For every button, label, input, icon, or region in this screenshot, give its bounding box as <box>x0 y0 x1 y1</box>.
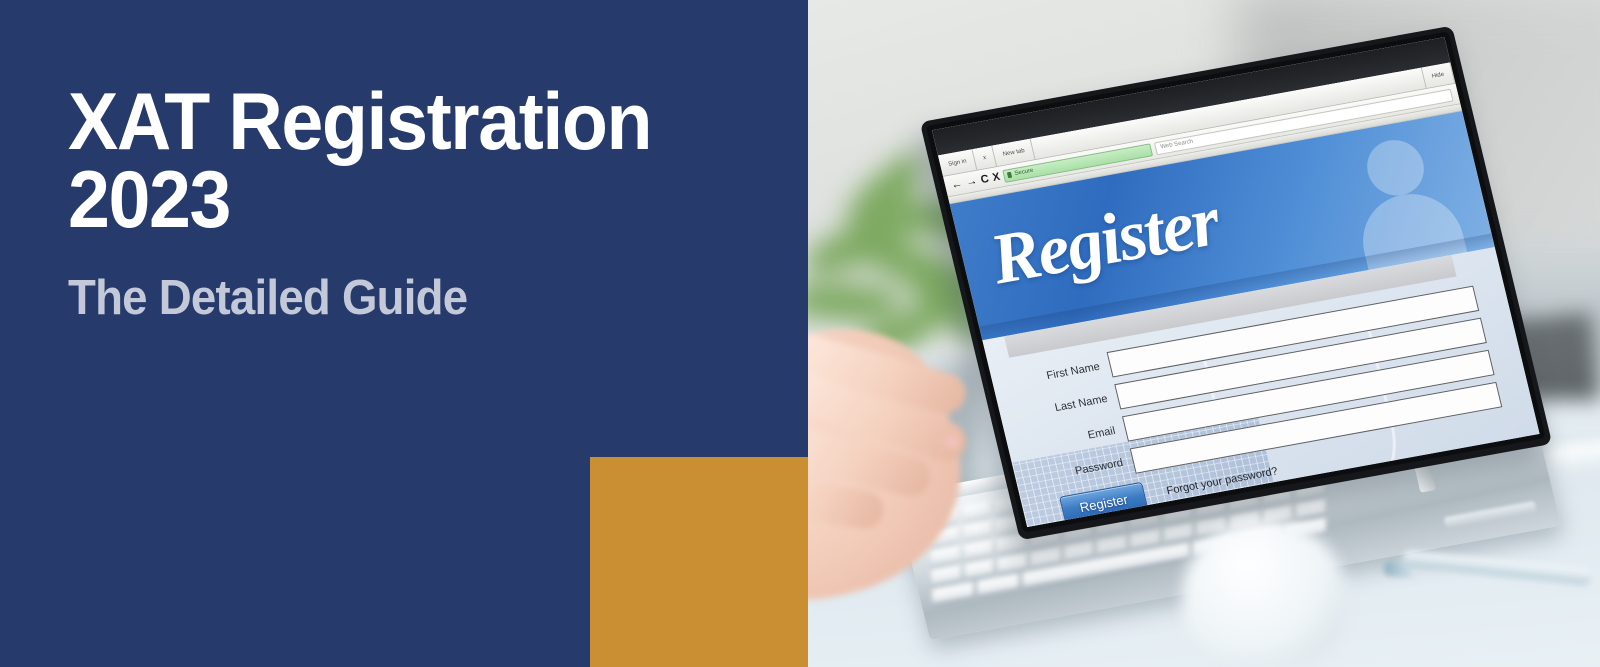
page-title: XAT Registration 2023 The Detailed Guide <box>68 84 768 323</box>
lock-icon <box>1007 172 1012 179</box>
page-title-line-1: XAT Registration <box>68 84 719 162</box>
page-subtitle: The Detailed Guide <box>68 274 719 323</box>
address-bar-label: Secure <box>1014 168 1034 177</box>
accent-block <box>590 457 810 667</box>
hero-left-panel: XAT Registration 2023 The Detailed Guide <box>0 0 810 667</box>
computer-mouse <box>1182 520 1347 667</box>
stop-icon[interactable]: X <box>991 171 1001 183</box>
reload-icon[interactable]: C <box>980 173 990 185</box>
page-title-line-2: 2023 <box>68 162 719 240</box>
trackpad[interactable] <box>1444 501 1537 528</box>
back-arrow-icon[interactable]: ← <box>950 178 963 191</box>
register-banner-title: Register <box>982 180 1226 302</box>
hero-photo: Sign in x New tab Hide ← → C X Secure We… <box>808 0 1600 667</box>
hand <box>808 300 1108 630</box>
forward-arrow-icon[interactable]: → <box>965 176 978 189</box>
